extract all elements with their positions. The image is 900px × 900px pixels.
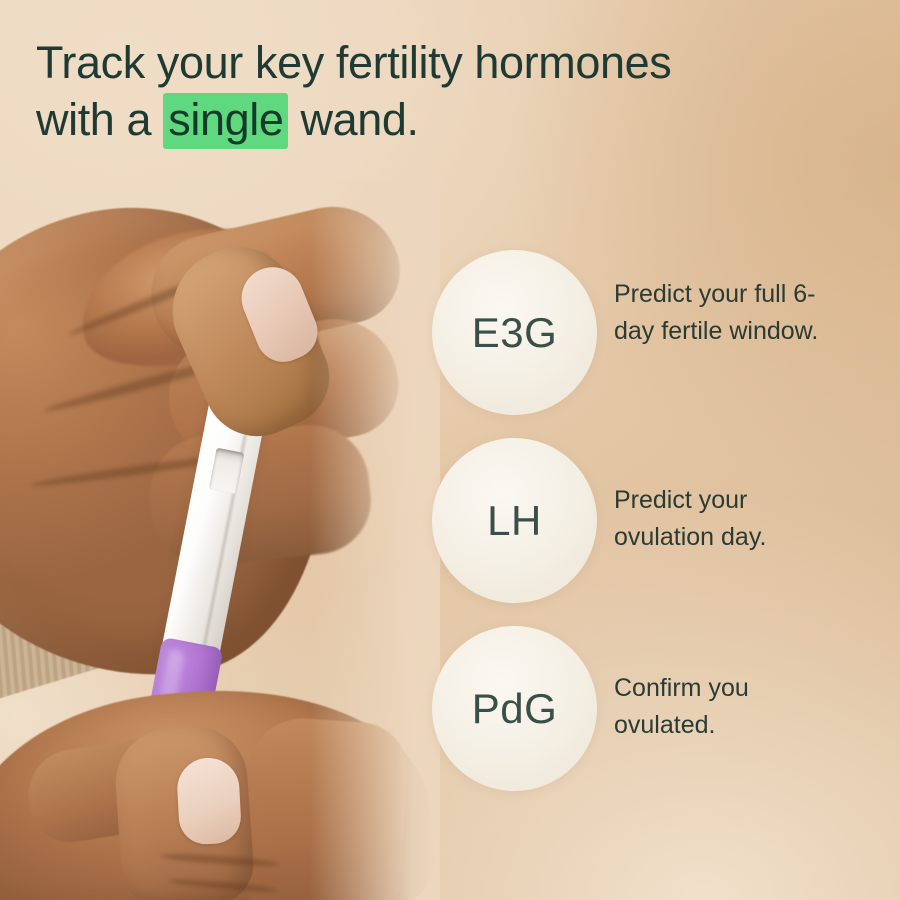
- product-photo: [0, 180, 440, 900]
- hormone-list: E3G Predict your full 6-day fertile wind…: [432, 250, 872, 814]
- list-item: LH Predict your ovulation day.: [432, 438, 872, 626]
- photo-bottom-fade: [0, 840, 440, 900]
- heading-line-1: Track your key fertility hormones: [36, 37, 671, 88]
- hormone-abbr: LH: [487, 500, 542, 542]
- page-title: Track your key fertility hormones with a…: [36, 34, 816, 148]
- lower-hand-fingernail: [176, 756, 242, 845]
- heading-highlight: single: [163, 93, 288, 149]
- hormone-abbr: E3G: [472, 312, 558, 354]
- photo-edge-fade: [310, 180, 440, 900]
- list-item: PdG Confirm you ovulated.: [432, 626, 872, 814]
- list-item: E3G Predict your full 6-day fertile wind…: [432, 250, 872, 438]
- hormone-badge-lh: LH: [432, 438, 597, 603]
- heading-line-2-before: with a: [36, 94, 163, 145]
- heading-line-2-after: wand.: [288, 94, 418, 145]
- hormone-description: Predict your full 6-day fertile window.: [614, 276, 844, 350]
- hormone-abbr: PdG: [472, 688, 558, 730]
- hormone-badge-pdg: PdG: [432, 626, 597, 791]
- promo-card: Track your key fertility hormones with a…: [0, 0, 900, 900]
- hormone-description: Confirm you ovulated.: [614, 670, 844, 744]
- hormone-description: Predict your ovulation day.: [614, 482, 844, 556]
- hormone-badge-e3g: E3G: [432, 250, 597, 415]
